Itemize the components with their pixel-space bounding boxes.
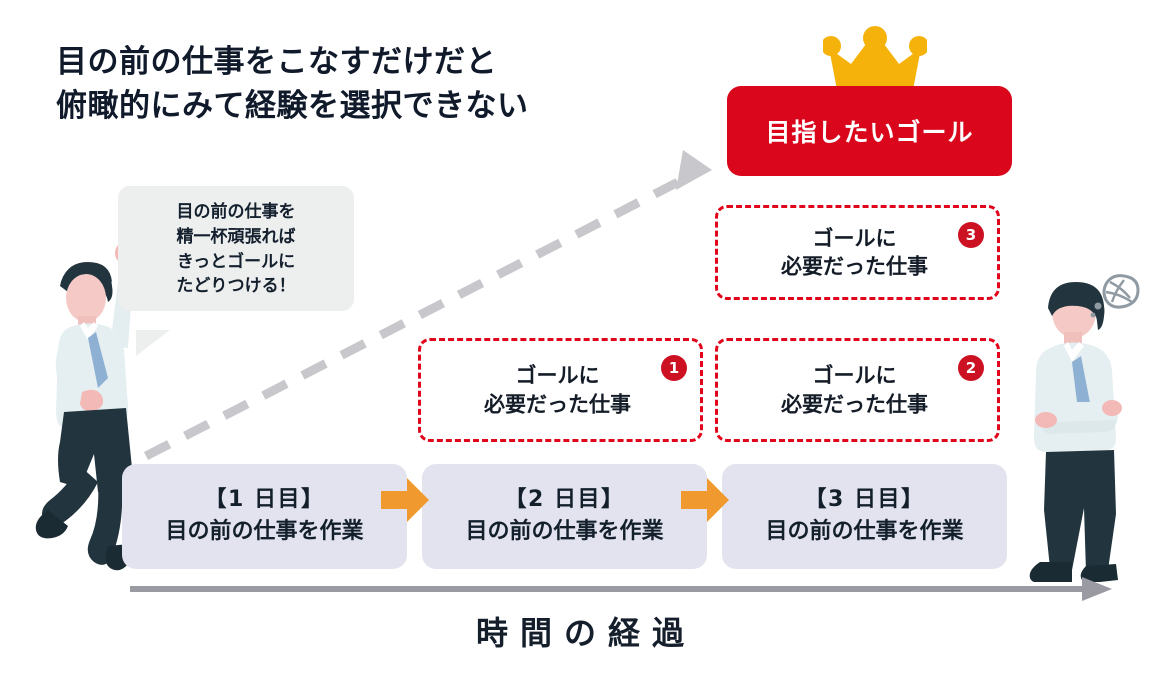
day-1-title: 【1 日目】 [205,486,325,515]
day-3-subtitle: 目の前の仕事を作業 [765,518,963,547]
task-2-badge: 2 [958,355,984,381]
day-box-1[interactable]: 【1 日目】 目の前の仕事を作業 [122,464,407,569]
task-box-1[interactable]: ゴールに 必要だった仕事 [418,338,703,442]
day-2-title: 【2 日目】 [505,486,625,515]
task-1-badge: 1 [661,355,687,381]
step-arrow-icon-2 [681,478,729,522]
thought-scribble-icon [1090,272,1144,320]
task-box-2[interactable]: ゴールに 必要だった仕事 [715,338,1000,442]
task-3-label: ゴールに 必要だった仕事 [718,224,997,281]
goal-label: 目指したいゴール [765,113,973,149]
time-axis-label: 時間の経過 [0,608,1160,654]
day-2-subtitle: 目の前の仕事を作業 [465,518,663,547]
speech-bubble-tail [136,330,170,356]
task-1-label: ゴールに 必要だった仕事 [421,361,700,418]
task-3-badge: 3 [958,222,984,248]
day-3-title: 【3 日目】 [805,486,925,515]
day-1-subtitle: 目の前の仕事を作業 [165,518,363,547]
crown-icon [823,26,927,92]
page-title: 目の前の仕事をこなすだけだと 俯瞰的にみて経験を選択できない [56,40,529,128]
step-arrow-icon-1 [381,478,429,522]
task-box-3[interactable]: ゴールに 必要だった仕事 [715,205,1000,300]
diagram-canvas: 目の前の仕事をこなすだけだと 俯瞰的にみて経験を選択できない 目の前 [0,0,1160,700]
day-box-2[interactable]: 【2 日目】 目の前の仕事を作業 [422,464,707,569]
speech-bubble: 目の前の仕事を 精一杯頑張れば きっとゴールに たどりつける！ [118,186,354,311]
day-box-3[interactable]: 【3 日目】 目の前の仕事を作業 [722,464,1007,569]
goal-box[interactable]: 目指したいゴール [727,86,1012,176]
task-2-label: ゴールに 必要だった仕事 [718,361,997,418]
